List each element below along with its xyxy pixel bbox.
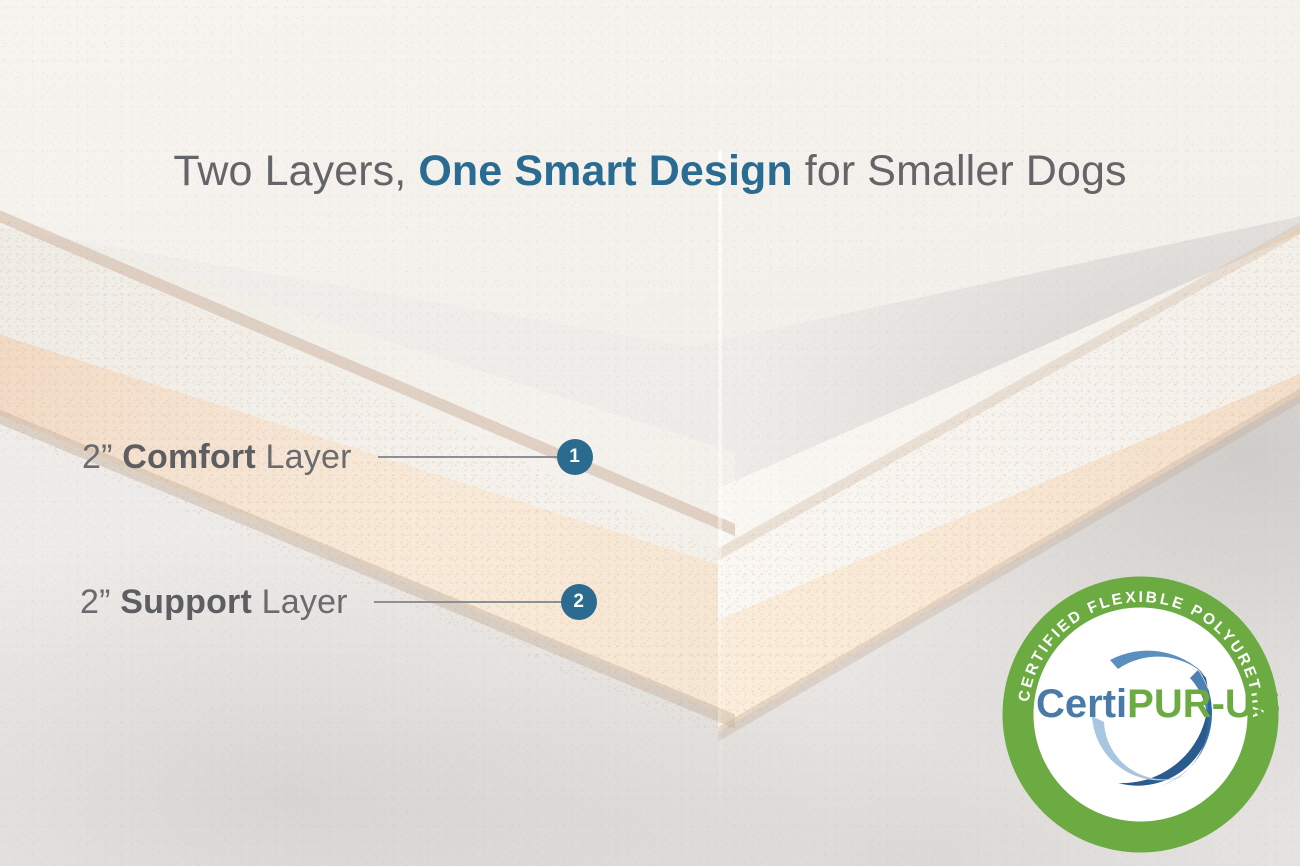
comfort-layer-suffix: Layer (256, 438, 352, 476)
headline: Two Layers, One Smart Design for Smaller… (0, 148, 1300, 195)
infographic-canvas: Two Layers, One Smart Design for Smaller… (0, 0, 1300, 866)
callout-support-number-badge: 2 (561, 584, 597, 620)
comfort-layer-name: Comfort (122, 438, 256, 476)
callout-comfort-text: 2” Comfort Layer (82, 438, 352, 477)
comfort-thickness: 2” (82, 438, 122, 476)
front-corner-highlight (718, 150, 722, 840)
headline-part-2: for Smaller Dogs (793, 147, 1127, 195)
callout-support-layer: 2” Support Layer 2 (80, 580, 597, 624)
callout-comfort-number-badge: 1 (557, 439, 593, 475)
headline-accent: One Smart Design (418, 147, 792, 195)
headline-part-1: Two Layers, (173, 147, 418, 195)
certipur-us-badge: CONTAINS CERTIFIED FLEXIBLE POLYURETHANE… (1000, 574, 1281, 855)
callout-support-text: 2” Support Layer (80, 583, 348, 622)
callout-comfort-leader-line (378, 456, 558, 458)
support-layer-suffix: Layer (252, 583, 348, 621)
callout-comfort-layer: 2” Comfort Layer 1 (82, 435, 593, 479)
support-layer-name: Support (120, 583, 252, 621)
support-thickness: 2” (80, 583, 120, 621)
callout-support-leader-line (374, 601, 562, 603)
badge-wordmark: CertiPUR-US® (1036, 682, 1281, 726)
